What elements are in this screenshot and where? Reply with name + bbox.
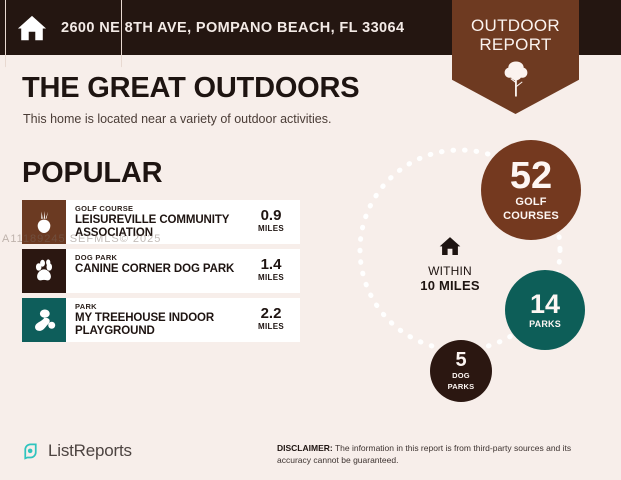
tree-icon bbox=[502, 60, 530, 98]
poi-icon-tile bbox=[22, 200, 66, 244]
popular-heading: POPULAR bbox=[22, 157, 162, 190]
poi-name: MY TREEHOUSE INDOOR PLAYGROUND bbox=[75, 312, 242, 338]
listreports-wordmark: ListReports bbox=[48, 441, 132, 461]
poi-distance-unit: MILES bbox=[242, 224, 300, 233]
poi-distance-unit: MILES bbox=[242, 322, 300, 331]
poi-text: DOG PARK CANINE CORNER DOG PARK bbox=[66, 249, 242, 293]
poi-distance: 1.4 MILES bbox=[242, 249, 300, 293]
stat-bubble-golf-courses[interactable]: 52 GOLF COURSES bbox=[481, 140, 581, 240]
within-label: WITHIN bbox=[400, 264, 500, 278]
poi-distance-value: 1.4 bbox=[242, 257, 300, 273]
poi-distance-unit: MILES bbox=[242, 273, 300, 282]
stat-value: 52 bbox=[510, 158, 552, 194]
poi-distance: 2.2 MILES bbox=[242, 298, 300, 342]
badge-title-line2: REPORT bbox=[452, 35, 579, 54]
home-icon bbox=[439, 235, 461, 257]
disclaimer-label: DISCLAIMER: bbox=[277, 443, 333, 453]
golf-icon bbox=[31, 209, 57, 235]
listreports-leaf-icon bbox=[20, 440, 41, 461]
poi-text: GOLF COURSE LEISUREVILLE COMMUNITY ASSOC… bbox=[66, 200, 242, 244]
poi-category: DOG PARK bbox=[75, 253, 242, 263]
stat-label-line2: COURSES bbox=[503, 210, 559, 222]
poi-name: LEISUREVILLE COMMUNITY ASSOCIATION bbox=[75, 214, 242, 240]
stat-label-line1: GOLF bbox=[515, 196, 546, 208]
stat-label-line2: PARKS bbox=[448, 383, 475, 392]
poi-distance-value: 0.9 bbox=[242, 208, 300, 224]
outdoor-report-badge: OUTDOOR REPORT bbox=[452, 0, 579, 114]
page-subtitle: This home is located near a variety of o… bbox=[23, 112, 331, 126]
paw-icon bbox=[31, 258, 57, 284]
park-icon bbox=[31, 307, 57, 333]
poi-text: PARK MY TREEHOUSE INDOOR PLAYGROUND bbox=[66, 298, 242, 342]
within-block: WITHIN 10 MILES bbox=[400, 235, 500, 293]
poi-distance-value: 2.2 bbox=[242, 306, 300, 322]
page-title: THE GREAT OUTDOORS bbox=[22, 72, 359, 105]
stat-value: 5 bbox=[455, 351, 466, 370]
popular-list: GOLF COURSE LEISUREVILLE COMMUNITY ASSOC… bbox=[22, 200, 300, 347]
stat-bubble-parks[interactable]: 14 PARKS bbox=[505, 270, 585, 350]
stat-value: 14 bbox=[530, 291, 560, 317]
list-item[interactable]: GOLF COURSE LEISUREVILLE COMMUNITY ASSOC… bbox=[22, 200, 300, 244]
list-item[interactable]: PARK MY TREEHOUSE INDOOR PLAYGROUND 2.2 … bbox=[22, 298, 300, 342]
poi-distance: 0.9 MILES bbox=[242, 200, 300, 244]
poi-name: CANINE CORNER DOG PARK bbox=[75, 263, 242, 276]
poi-icon-tile bbox=[22, 249, 66, 293]
listreports-logo[interactable]: ListReports bbox=[20, 440, 132, 461]
outdoor-report-page: 2600 NE 8TH AVE, POMPANO BEACH, FL 33064… bbox=[0, 0, 621, 480]
stat-label-line1: PARKS bbox=[529, 319, 561, 330]
disclaimer: DISCLAIMER: The information in this repo… bbox=[277, 443, 597, 466]
home-icon bbox=[17, 13, 47, 43]
stat-label-line1: DOG bbox=[452, 372, 470, 381]
stat-bubble-dog-parks[interactable]: 5 DOG PARKS bbox=[430, 340, 492, 402]
poi-icon-tile bbox=[22, 298, 66, 342]
header-address: 2600 NE 8TH AVE, POMPANO BEACH, FL 33064 bbox=[61, 20, 404, 36]
list-item[interactable]: DOG PARK CANINE CORNER DOG PARK 1.4 MILE… bbox=[22, 249, 300, 293]
poi-category: GOLF COURSE bbox=[75, 204, 242, 214]
badge-title-line1: OUTDOOR bbox=[452, 16, 579, 35]
stats-cluster: WITHIN 10 MILES 52 GOLF COURSES 14 PARKS… bbox=[345, 130, 621, 415]
poi-category: PARK bbox=[75, 302, 242, 312]
within-radius: 10 MILES bbox=[400, 278, 500, 293]
